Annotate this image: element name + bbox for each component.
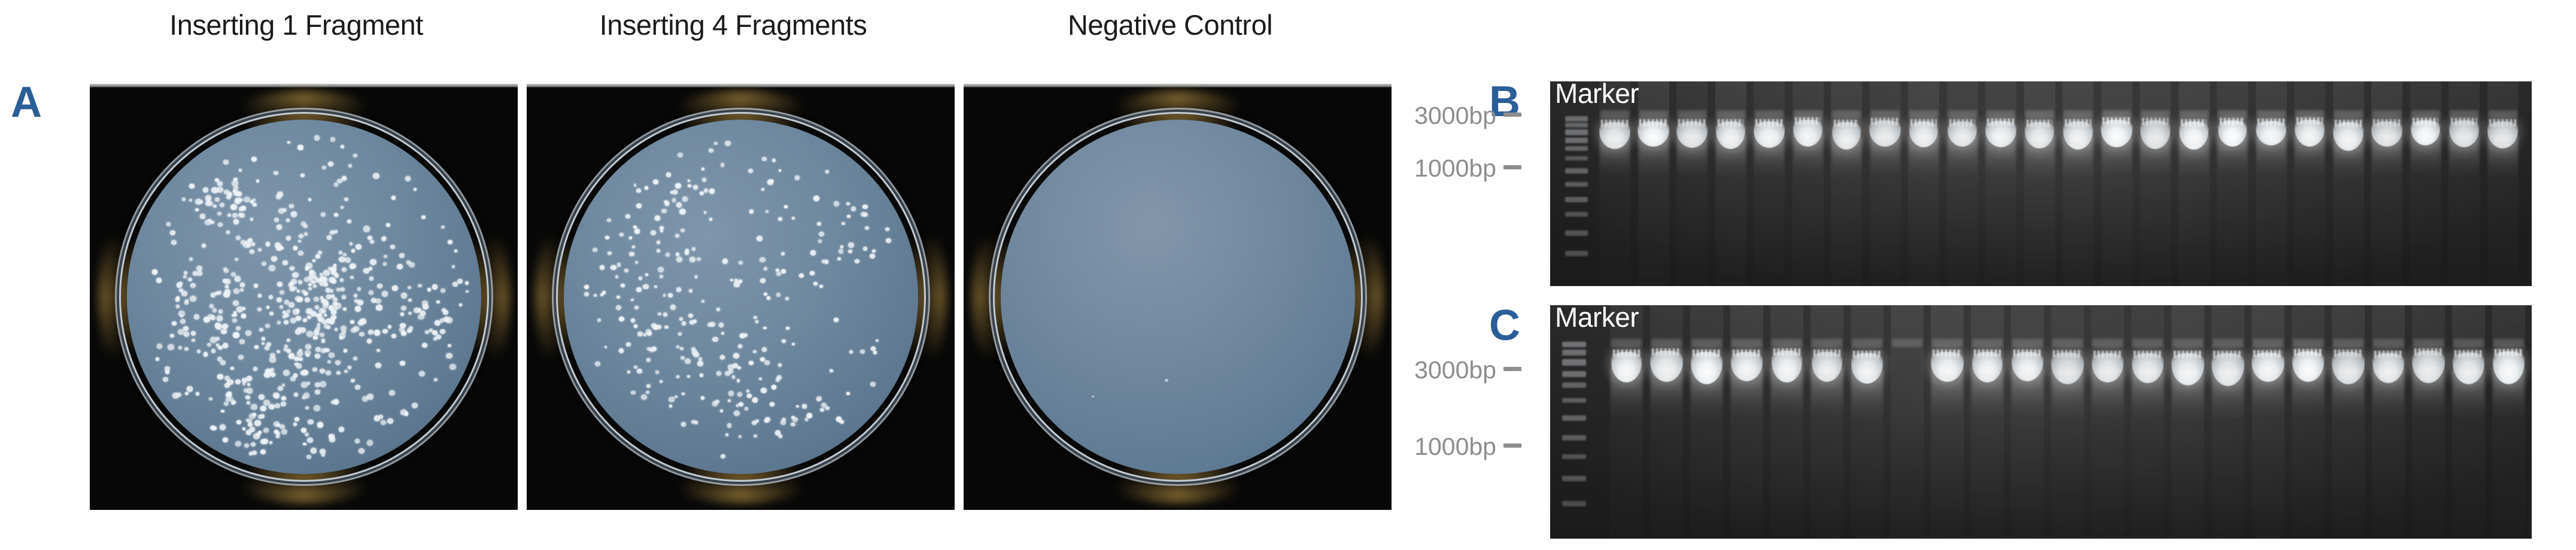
gel-well bbox=[1972, 339, 2003, 347]
band-texture bbox=[1718, 119, 1743, 126]
band-texture bbox=[2103, 117, 2130, 124]
gel-well bbox=[1871, 110, 1900, 118]
gel-well bbox=[1852, 339, 1882, 347]
band-texture bbox=[1974, 350, 2001, 357]
gel-well bbox=[1932, 339, 1963, 347]
dna-ladder-lane bbox=[1565, 113, 1588, 281]
gel-well bbox=[1948, 110, 1977, 118]
gel-well bbox=[1611, 339, 1642, 347]
gel-well bbox=[1651, 339, 1682, 347]
band-texture bbox=[2174, 351, 2203, 358]
gel-well bbox=[2180, 110, 2209, 118]
gel-well bbox=[1772, 339, 1802, 347]
gel-well bbox=[2141, 110, 2170, 118]
band-texture bbox=[1678, 119, 1706, 126]
band-texture bbox=[2413, 118, 2438, 125]
bp-label-3000-panel-b: 3000bp bbox=[1299, 102, 1496, 130]
panel-letter-a: A bbox=[11, 81, 42, 124]
band-texture bbox=[2181, 119, 2207, 126]
figure-root: A Inserting 1 Fragment Inserting 4 Fragm… bbox=[0, 0, 2576, 550]
agar-surface bbox=[564, 120, 918, 474]
band-texture bbox=[2220, 118, 2245, 125]
petri-dish-image-4-fragments bbox=[527, 84, 955, 510]
band-texture bbox=[2134, 351, 2162, 358]
gel-well bbox=[2257, 110, 2286, 118]
band-texture bbox=[1613, 350, 1640, 357]
gel-well bbox=[1755, 110, 1784, 118]
gel-canvas-b bbox=[1550, 81, 2532, 286]
band-texture bbox=[1813, 350, 1840, 357]
band-texture bbox=[1733, 350, 1761, 357]
band-texture bbox=[1795, 117, 1821, 124]
panel-a: A Inserting 1 Fragment Inserting 4 Fragm… bbox=[0, 0, 1395, 550]
gel-well bbox=[2373, 339, 2404, 347]
gel-well bbox=[2092, 339, 2123, 347]
bp-label-1000-panel-b: 1000bp bbox=[1299, 154, 1496, 183]
gel-well bbox=[2012, 339, 2043, 347]
band-texture bbox=[2027, 120, 2052, 127]
gel-well bbox=[2293, 339, 2323, 347]
band-texture bbox=[2213, 351, 2242, 358]
bp-tick-1000-panel-b bbox=[1503, 165, 1521, 169]
gel-well bbox=[1600, 110, 1629, 118]
band-texture bbox=[2334, 350, 2363, 357]
gel-well bbox=[2173, 339, 2203, 347]
gel-marker-label-b: Marker bbox=[1555, 79, 1639, 108]
bp-tick-1000-panel-c bbox=[1503, 443, 1521, 448]
gel-well bbox=[2218, 110, 2247, 118]
agar-surface bbox=[127, 120, 481, 474]
panel-letter-c: C bbox=[1489, 304, 1520, 347]
gel-well bbox=[2333, 339, 2364, 347]
band-texture bbox=[1910, 119, 1936, 126]
band-texture bbox=[1639, 119, 1667, 126]
band-texture bbox=[2094, 351, 2122, 358]
plate-title-4-fragments: Inserting 4 Fragments bbox=[527, 8, 940, 41]
gel-well bbox=[1832, 110, 1861, 118]
image-top-edge bbox=[90, 84, 518, 87]
band-texture bbox=[2374, 351, 2402, 358]
gel-well bbox=[1678, 110, 1706, 118]
bp-label-3000-panel-c: 3000bp bbox=[1299, 356, 1496, 384]
gel-well bbox=[2413, 339, 2444, 347]
colony-field bbox=[127, 120, 481, 474]
band-texture bbox=[2142, 118, 2168, 125]
gel-well bbox=[1731, 339, 1762, 347]
gel-canvas-c bbox=[1550, 305, 2532, 539]
band-texture bbox=[2065, 119, 2091, 126]
gel-marker-label-c: Marker bbox=[1555, 303, 1639, 332]
gel-well bbox=[1909, 110, 1938, 118]
band-texture bbox=[1853, 351, 1881, 358]
gel-image-panel-b: Marker bbox=[1550, 81, 2532, 286]
band-texture bbox=[1601, 120, 1628, 127]
band-texture bbox=[1871, 118, 1898, 125]
gel-well bbox=[2253, 339, 2283, 347]
plate-title-1-fragment: Inserting 1 Fragment bbox=[90, 8, 503, 41]
gel-well bbox=[2493, 339, 2524, 347]
gel-well bbox=[2213, 339, 2243, 347]
gel-well bbox=[2453, 339, 2484, 347]
gel-well bbox=[2064, 110, 2092, 118]
gel-well bbox=[2411, 110, 2440, 118]
band-texture bbox=[2053, 350, 2082, 357]
bp-tick-3000-panel-c bbox=[1503, 367, 1521, 371]
gel-well bbox=[1717, 110, 1745, 118]
band-texture bbox=[1933, 350, 1962, 357]
band-texture bbox=[1949, 119, 1975, 126]
band-texture bbox=[1987, 118, 2015, 126]
band-texture bbox=[1755, 119, 1783, 126]
band-texture bbox=[2335, 120, 2361, 127]
petri-dish-image-1-fragment bbox=[90, 84, 518, 510]
gel-image-panel-c: Marker bbox=[1550, 305, 2532, 539]
bp-tick-3000-panel-b bbox=[1503, 113, 1521, 117]
band-texture bbox=[1652, 348, 1681, 355]
image-top-edge bbox=[527, 84, 955, 87]
band-texture bbox=[1834, 120, 1860, 127]
gel-well bbox=[2373, 110, 2401, 118]
image-top-edge bbox=[964, 84, 1392, 87]
colony-field bbox=[564, 120, 918, 474]
plate-title-negative-control: Negative Control bbox=[964, 8, 1377, 41]
band-texture bbox=[2258, 118, 2285, 126]
dna-ladder-lane bbox=[1562, 340, 1586, 534]
band-texture bbox=[2451, 118, 2477, 125]
bp-label-1000-panel-c: 1000bp bbox=[1299, 433, 1496, 461]
band-texture bbox=[2414, 348, 2443, 355]
gel-well bbox=[1639, 110, 1668, 118]
band-texture bbox=[2296, 117, 2323, 124]
band-texture bbox=[1693, 350, 1721, 357]
gel-well bbox=[1812, 339, 1842, 347]
band-texture bbox=[2455, 350, 2482, 357]
gel-well bbox=[2133, 339, 2163, 347]
gel-well bbox=[1691, 339, 1722, 347]
gel-well bbox=[1892, 339, 1922, 347]
band-texture bbox=[2294, 349, 2322, 356]
band-texture bbox=[2373, 119, 2401, 126]
gel-well bbox=[2052, 339, 2083, 347]
gel-well bbox=[2025, 110, 2054, 118]
band-texture bbox=[2253, 350, 2282, 357]
gel-well bbox=[1986, 110, 2015, 118]
band-texture bbox=[1773, 348, 1800, 355]
gel-well bbox=[2489, 110, 2517, 118]
gel-well bbox=[2334, 110, 2363, 118]
band-texture bbox=[2013, 350, 2041, 357]
band-texture bbox=[2495, 349, 2523, 356]
band-texture bbox=[2489, 119, 2516, 126]
